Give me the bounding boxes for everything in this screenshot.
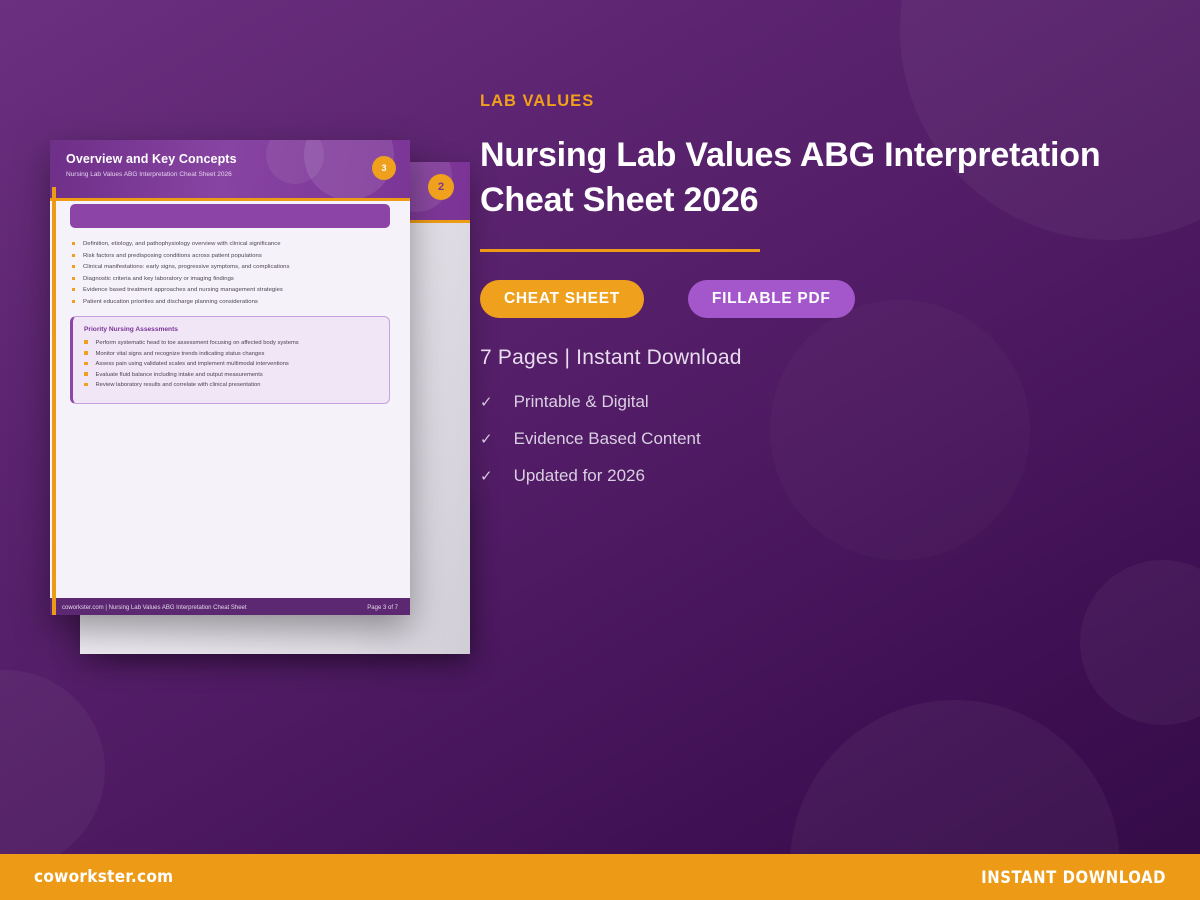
bullet-dot-icon — [72, 277, 75, 280]
list-item: Definition, etiology, and pathophysiolog… — [72, 241, 398, 247]
preview-section-bar — [70, 204, 390, 228]
list-item-label: Evidence Based Content — [514, 429, 701, 449]
title-divider — [480, 249, 760, 252]
hero-content: LAB VALUES Nursing Lab Values ABG Interp… — [480, 92, 1120, 503]
preview-page-3-footer-right: Page 3 of 7 — [367, 605, 398, 611]
preview-page-subtitle: Nursing Lab Values ABG Interpretation Ch… — [66, 171, 394, 178]
list-item-label: Clinical manifestations: early signs, pr… — [83, 264, 290, 270]
preview-page-3-footer: coworkster.com | Nursing Lab Values ABG … — [50, 598, 410, 615]
page-title: Nursing Lab Values ABG Interpretation Ch… — [480, 133, 1105, 223]
list-item-label: Risk factors and predisposing conditions… — [83, 253, 262, 259]
list-item: Diagnostic criteria and key laboratory o… — [72, 276, 398, 282]
preview-page-3-body: Definition, etiology, and pathophysiolog… — [50, 204, 410, 615]
badge-fillable-pdf[interactable]: FILLABLE PDF — [688, 280, 855, 318]
list-item: Risk factors and predisposing conditions… — [72, 253, 398, 259]
list-item: ✓ Updated for 2026 — [480, 466, 1120, 486]
feature-list: ✓ Printable & Digital ✓ Evidence Based C… — [480, 392, 1120, 486]
bullet-square-icon — [84, 362, 88, 366]
list-item-label: Assess pain using validated scales and i… — [96, 361, 289, 367]
bottom-bar: coworkster.com INSTANT DOWNLOAD — [0, 854, 1200, 900]
list-item: ✓ Printable & Digital — [480, 392, 1120, 412]
list-item-label: Monitor vital signs and recognize trends… — [96, 351, 265, 357]
bottom-bar-cta[interactable]: INSTANT DOWNLOAD — [981, 868, 1166, 887]
list-item-label: Review laboratory results and correlate … — [96, 382, 261, 388]
list-item-label: Perform systematic head to toe assessmen… — [96, 340, 299, 346]
decorative-circle-bottom-left — [0, 670, 105, 870]
check-icon: ✓ — [480, 467, 493, 485]
bullet-dot-icon — [72, 300, 75, 303]
list-item: Evidence based treatment approaches and … — [72, 287, 398, 293]
list-item: Assess pain using validated scales and i… — [84, 361, 378, 367]
preview-page-3[interactable]: Overview and Key Concepts Nursing Lab Va… — [50, 140, 410, 615]
list-item: Patient education priorities and dischar… — [72, 299, 398, 305]
bullet-square-icon — [84, 383, 88, 387]
list-item-label: Printable & Digital — [514, 392, 649, 412]
bullet-dot-icon — [72, 288, 75, 291]
preview-left-accent-stripe — [52, 187, 56, 615]
pages-and-delivery-text: 7 Pages | Instant Download — [480, 346, 1120, 370]
bullet-square-icon — [84, 340, 88, 344]
check-icon: ✓ — [480, 430, 493, 448]
preview-page-3-badge: 3 — [372, 156, 396, 180]
bullet-dot-icon — [72, 242, 75, 245]
decorative-circle-bottom-right-small — [1080, 560, 1200, 725]
list-item-label: Definition, etiology, and pathophysiolog… — [83, 241, 281, 247]
category-eyebrow: LAB VALUES — [480, 92, 1120, 111]
bullet-square-icon — [84, 351, 88, 355]
list-item-label: Evaluate fluid balance including intake … — [96, 372, 263, 378]
bullet-square-icon — [84, 372, 88, 376]
priority-box-list: Perform systematic head to toe assessmen… — [84, 340, 378, 388]
document-preview-stack[interactable]: coworkster.com 2 3 4 5 6 7 coworkster.co… — [50, 140, 480, 652]
bullet-dot-icon — [72, 254, 75, 257]
bullet-dot-icon — [72, 265, 75, 268]
bottom-bar-site[interactable]: coworkster.com — [34, 867, 173, 887]
list-item-label: Updated for 2026 — [514, 466, 645, 486]
list-item-label: Evidence based treatment approaches and … — [83, 287, 283, 293]
product-badges: CHEAT SHEET FILLABLE PDF — [480, 280, 1120, 318]
preview-page-3-accent-line — [50, 198, 410, 201]
badge-cheat-sheet[interactable]: CHEAT SHEET — [480, 280, 644, 318]
list-item: ✓ Evidence Based Content — [480, 429, 1120, 449]
list-item: Monitor vital signs and recognize trends… — [84, 351, 378, 357]
preview-page-3-header: Overview and Key Concepts Nursing Lab Va… — [50, 140, 410, 198]
preview-page-title: Overview and Key Concepts — [66, 152, 394, 166]
priority-nursing-assessments-box: Priority Nursing Assessments Perform sys… — [70, 316, 390, 404]
priority-box-title: Priority Nursing Assessments — [84, 326, 378, 333]
preview-bullet-list: Definition, etiology, and pathophysiolog… — [72, 241, 398, 305]
list-item: Evaluate fluid balance including intake … — [84, 372, 378, 378]
preview-page-3-footer-left: coworkster.com | Nursing Lab Values ABG … — [62, 605, 247, 611]
check-icon: ✓ — [480, 393, 493, 411]
list-item: Review laboratory results and correlate … — [84, 382, 378, 388]
list-item: Perform systematic head to toe assessmen… — [84, 340, 378, 346]
list-item-label: Patient education priorities and dischar… — [83, 299, 258, 305]
list-item-label: Diagnostic criteria and key laboratory o… — [83, 276, 234, 282]
preview-page-2-badge: 2 — [428, 174, 454, 200]
list-item: Clinical manifestations: early signs, pr… — [72, 264, 398, 270]
